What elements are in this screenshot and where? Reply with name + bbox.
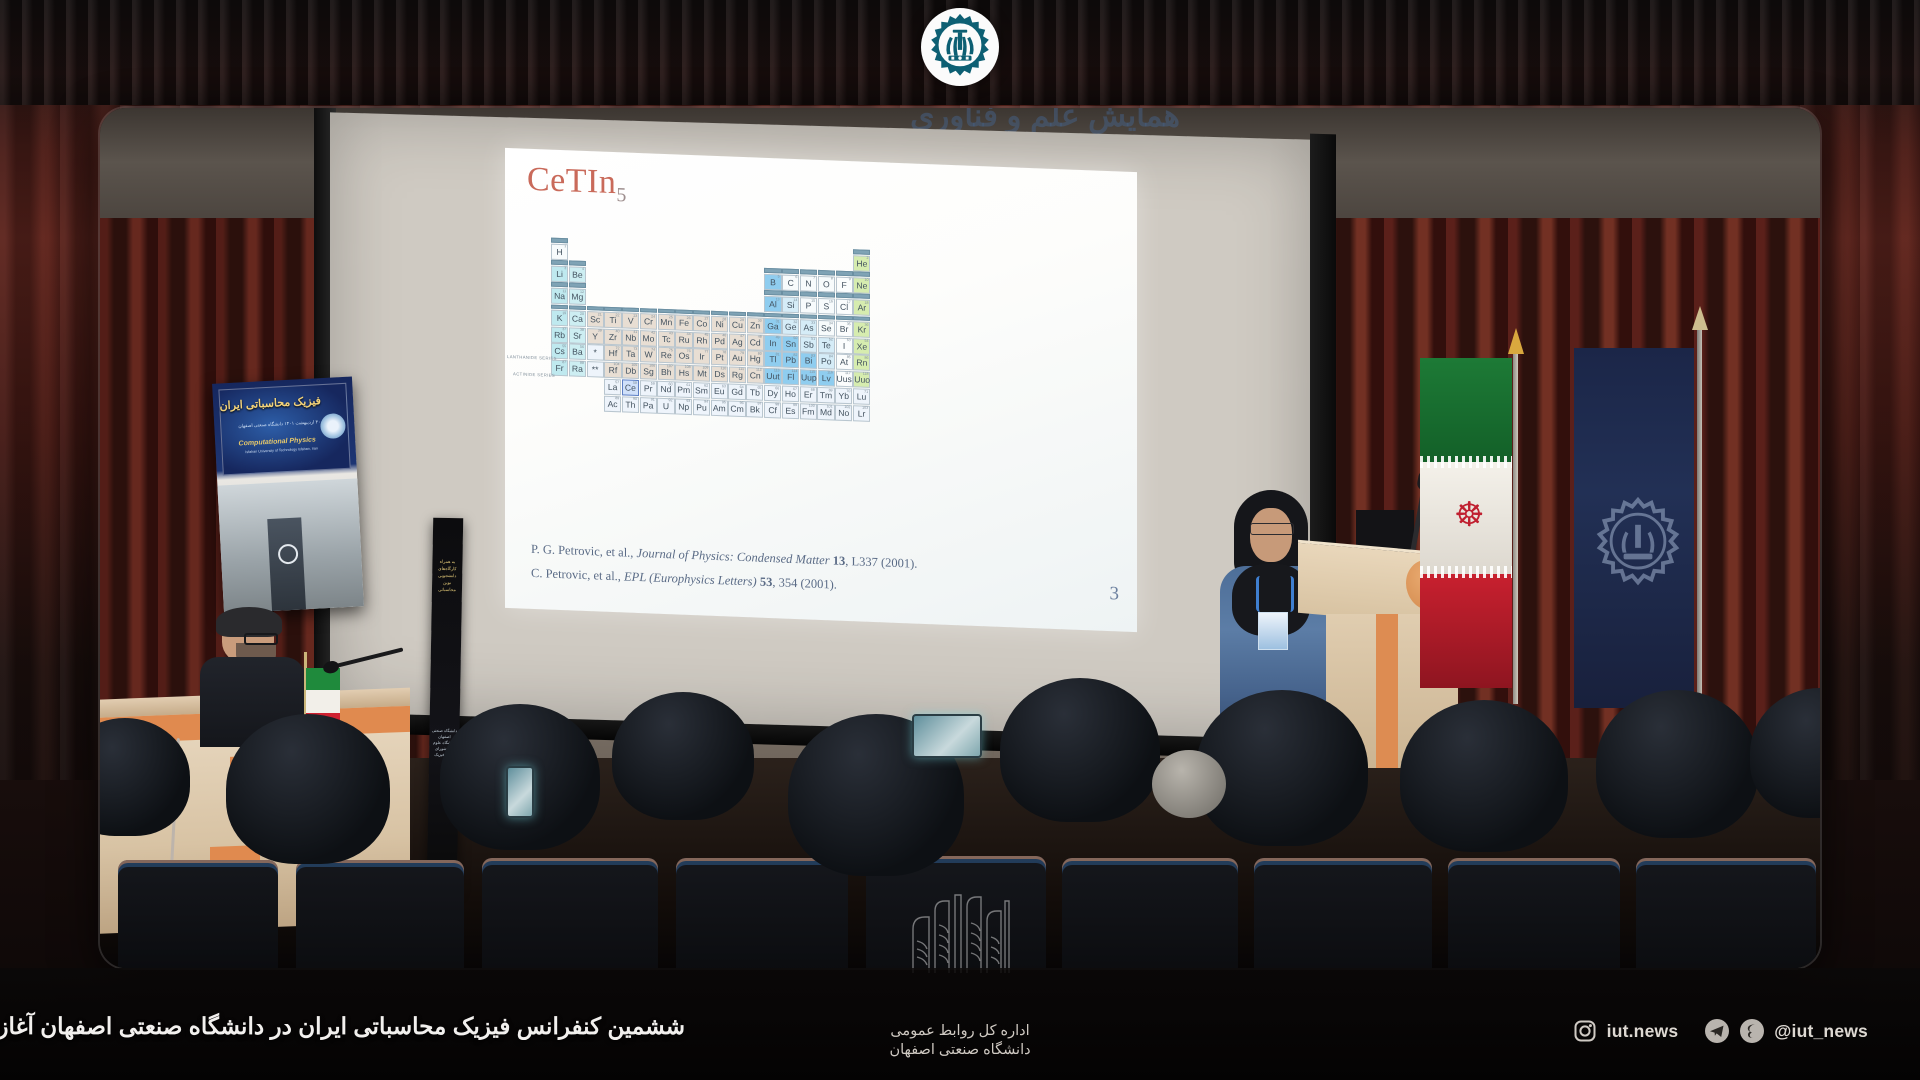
- element-hs: 108Hs: [675, 364, 692, 381]
- element-symbol: Sm: [694, 387, 709, 396]
- instagram-icon[interactable]: [1572, 1018, 1598, 1044]
- group-tab: [711, 310, 728, 315]
- eitaa-icon[interactable]: [1739, 1018, 1765, 1044]
- element-tm: 69Tm: [817, 387, 834, 404]
- instagram-handle[interactable]: iut.news: [1607, 1021, 1679, 1042]
- element-au: 79Au: [729, 350, 746, 367]
- element-p: 15P: [800, 297, 817, 314]
- element-symbol: Po: [819, 357, 834, 366]
- element-symbol: Au: [730, 354, 745, 363]
- element-symbol: Pa: [641, 401, 656, 410]
- element-tc: 43Tc: [658, 331, 675, 348]
- element-symbol: No: [836, 409, 851, 418]
- phone-screen: [914, 716, 980, 756]
- group-tab: [853, 294, 870, 299]
- element-symbol: Fr: [552, 364, 567, 373]
- element-symbol: Cr: [641, 318, 656, 327]
- element-symbol: Rf: [605, 366, 620, 375]
- group-tab-spacer: [587, 283, 604, 288]
- group-tab: [640, 308, 657, 313]
- element-symbol: Re: [659, 351, 674, 360]
- element-rg: 111Rg: [729, 366, 746, 383]
- element-pm: 61Pm: [675, 382, 692, 399]
- periodic-spacer: [640, 247, 657, 264]
- periodic-spacer: [640, 291, 657, 308]
- element-nd: 60Nd: [657, 381, 674, 398]
- element-zr: 40Zr: [604, 328, 621, 345]
- periodic-spacer: [711, 249, 728, 266]
- element-uuo: 118Uuo: [853, 371, 870, 388]
- element-ga: 31Ga: [764, 318, 781, 335]
- element-symbol: W: [641, 351, 656, 360]
- periodic-spacer: [604, 290, 621, 307]
- element-*: *: [587, 344, 604, 361]
- group-tab-spacer: [675, 265, 692, 270]
- element-as: 33As: [800, 319, 817, 336]
- element-symbol: Mo: [641, 334, 656, 343]
- slide-page-number: 3: [1110, 583, 1120, 605]
- group-tab: [800, 292, 817, 297]
- iut-calligraphy-watermark-icon: [905, 881, 1015, 976]
- group-tab: [569, 283, 586, 288]
- element-symbol: Li: [552, 270, 567, 279]
- element-symbol: K: [552, 314, 567, 323]
- group-tab-spacer: [729, 244, 746, 249]
- element-symbol: Eu: [712, 387, 727, 396]
- periodic-spacer: [569, 244, 586, 261]
- group-tab: [658, 308, 675, 313]
- element-symbol: Ta: [623, 350, 638, 359]
- element-he: 2He: [853, 255, 870, 272]
- element-lu: 71Lu: [853, 389, 870, 406]
- group-tab-spacer: [622, 263, 639, 268]
- element-o: 8O: [818, 276, 835, 293]
- element-ac: 89Ac: [604, 395, 621, 412]
- element-se: 34Se: [818, 320, 835, 337]
- phone-screen: [508, 768, 532, 816]
- element-symbol: Fe: [676, 319, 691, 328]
- element-symbol: P: [801, 302, 816, 311]
- element-y: 39Y: [587, 328, 604, 345]
- element-symbol: Ac: [605, 400, 620, 409]
- element-i: 53I: [836, 337, 853, 354]
- element-symbol: H: [552, 248, 567, 257]
- seat: [482, 858, 658, 968]
- element-symbol: Uuo: [854, 375, 869, 384]
- element-sb: 51Sb: [800, 336, 817, 353]
- element-symbol: Tb: [747, 389, 762, 398]
- element-ce: 58Ce: [622, 380, 639, 397]
- periodic-spacer: [622, 246, 639, 263]
- element-os: 76Os: [675, 348, 692, 365]
- element-symbol: Tc: [659, 335, 674, 344]
- element-symbol: Rn: [854, 359, 869, 368]
- element-es: 99Es: [782, 402, 799, 419]
- element-symbol: Ag: [730, 337, 745, 346]
- element-mn: 25Mn: [658, 314, 675, 331]
- element-cm: 96Cm: [728, 400, 745, 417]
- element-sg: 106Sg: [640, 363, 657, 380]
- element-f: 9F: [836, 276, 853, 293]
- group-tab-spacer: [640, 241, 657, 246]
- element-symbol: Bh: [659, 368, 674, 377]
- group-tab: [764, 268, 781, 273]
- element-symbol: Tm: [818, 391, 833, 400]
- element-dy: 66Dy: [764, 385, 781, 402]
- element-symbol: Uup: [801, 373, 816, 382]
- element-rb: 37Rb: [551, 326, 568, 343]
- group-tab-spacer: [693, 287, 710, 292]
- element-cu: 29Cu: [729, 317, 746, 334]
- element-symbol: Zn: [748, 322, 763, 331]
- element-s: 16S: [818, 298, 835, 315]
- element-symbol: Lu: [854, 393, 869, 402]
- group-tab: [551, 304, 568, 309]
- news-photo-card: همایش علم و فناوری CeTIn5 1H2He3Li: [0, 0, 1920, 1080]
- audience-head: [1750, 688, 1820, 818]
- periodic-spacer: [587, 289, 604, 306]
- group-tab: [818, 314, 835, 319]
- element-symbol: Sn: [783, 340, 798, 349]
- element-symbol: Mn: [659, 318, 674, 327]
- element-symbol: O: [819, 280, 834, 289]
- group-tab: [569, 261, 586, 266]
- element-symbol: **: [588, 365, 603, 374]
- element-symbol: Xe: [854, 342, 869, 351]
- periodic-spacer: [640, 269, 657, 286]
- element-symbol: Lv: [819, 374, 834, 383]
- element-symbol: At: [837, 358, 852, 367]
- element-symbol: Nd: [658, 385, 673, 394]
- citation-journal: EPL (Europhysics Letters): [624, 569, 757, 588]
- element-symbol: N: [801, 279, 816, 288]
- element-am: 95Am: [711, 400, 728, 417]
- element-symbol: Es: [783, 406, 798, 415]
- element-symbol: I: [837, 342, 852, 351]
- poster-tower-graphic: [267, 517, 306, 611]
- group-tab-spacer: [640, 285, 657, 290]
- group-tab: [800, 269, 817, 274]
- group-tab-spacer: [711, 244, 728, 249]
- element-symbol: Ds: [712, 370, 727, 379]
- element-u: 92U: [657, 397, 674, 414]
- audience-head: [1596, 690, 1758, 838]
- telegram-icon[interactable]: [1704, 1018, 1730, 1044]
- flag-emblem-icon: ☸: [1454, 498, 1494, 540]
- element-symbol: Lr: [854, 409, 869, 418]
- audience-head-gray: [1152, 750, 1226, 818]
- group-tab-spacer: [587, 239, 604, 244]
- element-symbol: S: [819, 302, 834, 311]
- element-cd: 48Cd: [747, 334, 764, 351]
- element-eu: 63Eu: [711, 383, 728, 400]
- group-tab: [747, 312, 764, 317]
- group-tab: [551, 238, 568, 243]
- group-tab-spacer: [711, 266, 728, 271]
- element-symbol: Os: [676, 352, 691, 361]
- element-pt: 78Pt: [711, 349, 728, 366]
- group-tab-spacer: [764, 246, 781, 251]
- element-sr: 38Sr: [569, 327, 586, 344]
- element-symbol: Yb: [836, 392, 851, 401]
- group-tab: [569, 305, 586, 310]
- group-tab-spacer: [747, 267, 764, 272]
- element-symbol: Fl: [783, 373, 798, 382]
- group-tab: [782, 291, 799, 296]
- element-symbol: Cl: [837, 303, 852, 312]
- audience-head: [1000, 678, 1160, 822]
- iut-gear-logo-icon: [1590, 496, 1686, 592]
- element-k: 19K: [551, 310, 568, 327]
- citation-volume: 53: [760, 575, 773, 589]
- element-ho: 67Ho: [782, 386, 799, 403]
- element-symbol: F: [837, 281, 852, 290]
- element-cl: 17Cl: [836, 299, 853, 316]
- group-tab: [836, 293, 853, 298]
- element-co: 27Co: [693, 315, 710, 332]
- citation-year: (2001).: [881, 555, 917, 570]
- element-symbol: Sc: [588, 316, 603, 325]
- element-ne: 10Ne: [853, 277, 870, 294]
- periodic-spacer: [604, 268, 621, 285]
- periodic-spacer: [675, 270, 692, 287]
- element-symbol: Si: [783, 301, 798, 310]
- element-c: 6C: [782, 274, 799, 291]
- element-rf: 104Rf: [604, 361, 621, 378]
- element-cf: 98Cf: [764, 402, 781, 419]
- group-tab: [551, 260, 568, 265]
- group-tab: [853, 316, 870, 321]
- element-symbol: Pu: [694, 403, 709, 412]
- element-symbol: Bi: [801, 357, 816, 366]
- periodic-spacer: [675, 248, 692, 265]
- seat: [1062, 858, 1238, 968]
- citation-2: C. Petrovic, et al., EPL (Europhysics Le…: [531, 566, 837, 593]
- group-tab: [675, 309, 692, 314]
- element-symbol: Pr: [641, 385, 656, 394]
- element-symbol: Md: [818, 408, 833, 417]
- element-at: 85At: [836, 354, 853, 371]
- citation-authors: P. G. Petrovic, et al.,: [531, 542, 633, 560]
- group-tab-spacer: [658, 286, 675, 291]
- lanthanide-series-label: LANTHANIDE SERIES: [507, 354, 557, 361]
- group-tab: [729, 311, 746, 316]
- seat: [118, 860, 278, 968]
- element-symbol: In: [765, 339, 780, 348]
- element-uus: 117Uus: [836, 370, 853, 387]
- element-re: 75Re: [658, 347, 675, 364]
- element-fm: 100Fm: [800, 403, 817, 420]
- iut-gear-logo-icon: [921, 8, 999, 86]
- element-al: 13Al: [764, 296, 781, 313]
- element-symbol: Co: [694, 320, 709, 329]
- element-md: 101Md: [817, 404, 834, 421]
- poster-bottom-image: [217, 478, 364, 613]
- element-symbol: Ru: [676, 335, 691, 344]
- element-no: 102No: [835, 404, 852, 421]
- element-mo: 42Mo: [640, 330, 657, 347]
- periodic-spacer: [693, 249, 710, 266]
- seat: [1448, 858, 1620, 968]
- group-tab-spacer: [729, 267, 746, 272]
- element-ge: 32Ge: [782, 319, 799, 336]
- element-w: 74W: [640, 346, 657, 363]
- flag-green-band: [1420, 358, 1512, 462]
- element-sc: 21Sc: [587, 311, 604, 328]
- element-symbol: Hg: [748, 355, 763, 364]
- element-symbol: Hs: [676, 368, 691, 377]
- element-te: 52Te: [818, 337, 835, 354]
- element-yb: 70Yb: [835, 388, 852, 405]
- element-symbol: Db: [623, 366, 638, 375]
- periodic-spacer: [622, 268, 639, 285]
- flag-kufic-band-top: [1420, 456, 1512, 468]
- element-symbol: Ir: [694, 353, 709, 362]
- element-symbol: Tl: [765, 355, 780, 364]
- element-symbol: *: [588, 349, 603, 358]
- group-tab-spacer: [604, 284, 621, 289]
- element-symbol: Kr: [854, 326, 869, 335]
- slide-title-text: CeTIn: [527, 161, 616, 201]
- element-si: 14Si: [782, 297, 799, 314]
- element-symbol: Hf: [605, 349, 620, 358]
- element-symbol: Br: [837, 325, 852, 334]
- element-symbol: Ba: [570, 348, 585, 357]
- element-symbol: Cd: [748, 338, 763, 347]
- element-symbol: B: [765, 278, 780, 287]
- seat: [296, 860, 464, 968]
- element-symbol: Pm: [676, 386, 691, 395]
- element-symbol: Dy: [765, 389, 780, 398]
- element-ir: 77Ir: [693, 348, 710, 365]
- element-n: 7N: [800, 275, 817, 292]
- group-tab: [853, 271, 870, 276]
- periodic-spacer: [747, 295, 764, 312]
- element-symbol: Ne: [854, 281, 869, 290]
- periodic-spacer: [818, 254, 835, 271]
- footer-bar: ششمین کنفرانس فیزیک محاسباتی ایران در دا…: [0, 968, 1920, 1080]
- group-tab-spacer: [747, 290, 764, 295]
- element-symbol: Uut: [765, 372, 780, 381]
- element-symbol: Y: [588, 332, 603, 341]
- element-symbol: Ra: [570, 364, 585, 373]
- element-po: 84Po: [818, 353, 835, 370]
- group-tab: [693, 310, 710, 315]
- presenter-glasses: [1250, 523, 1294, 535]
- element-uut: 113Uut: [764, 368, 781, 385]
- element-symbol: Se: [819, 324, 834, 333]
- element-symbol: Ar: [854, 304, 869, 313]
- element-rh: 45Rh: [693, 332, 710, 349]
- element-rn: 86Rn: [853, 355, 870, 372]
- periodic-spacer: [587, 245, 604, 262]
- organization-credit: اداره کل روابط عمومی دانشگاه صنعتی اصفها…: [889, 1023, 1030, 1058]
- eitaa-handle[interactable]: @iut_news: [1774, 1021, 1868, 1042]
- element-bh: 107Bh: [658, 364, 675, 381]
- element-mt: 109Mt: [693, 365, 710, 382]
- group-tab-spacer: [675, 287, 692, 292]
- element-symbol: U: [658, 402, 673, 411]
- periodic-spacer: [764, 252, 781, 269]
- element-mg: 12Mg: [569, 288, 586, 305]
- element-cn: 112Cn: [747, 367, 764, 384]
- element-symbol: Cm: [729, 404, 744, 413]
- periodic-spacer: [622, 290, 639, 307]
- phone-recording: [912, 714, 982, 758]
- citation-journal: Journal of Physics: Condensed Matter: [637, 546, 830, 567]
- element-symbol: As: [801, 324, 816, 333]
- element-symbol: He: [854, 259, 869, 268]
- element-symbol: Ga: [765, 322, 780, 331]
- citation-year: (2001).: [800, 576, 836, 591]
- group-tab: [836, 315, 853, 320]
- element-pa: 91Pa: [640, 397, 657, 414]
- periodic-spacer: [658, 292, 675, 309]
- slide-title-subscript: 5: [616, 184, 627, 206]
- element-symbol: Ti: [605, 316, 620, 325]
- element-h: 1H: [551, 243, 568, 260]
- element-ni: 28Ni: [711, 316, 728, 333]
- element-ag: 47Ag: [729, 333, 746, 350]
- element-tl: 81Tl: [764, 351, 781, 368]
- group-tab: [587, 306, 604, 311]
- element-symbol: Mg: [570, 293, 585, 302]
- social-handles: iut.news @iut_news: [1572, 1018, 1868, 1044]
- audience-head: [100, 718, 190, 836]
- element-symbol: Pd: [712, 337, 727, 346]
- photo-frame: همایش علم و فناوری CeTIn5 1H2He3Li: [100, 108, 1820, 968]
- group-tab-spacer: [604, 262, 621, 267]
- periodic-spacer: [658, 270, 675, 287]
- element-symbol: Cu: [730, 321, 745, 330]
- element-symbol: Ca: [570, 315, 585, 324]
- element-symbol: Ge: [783, 323, 798, 332]
- element-gd: 64Gd: [728, 384, 745, 401]
- periodic-spacer: [782, 252, 799, 269]
- seat: [676, 858, 848, 968]
- audience-head: [226, 714, 390, 864]
- org-line-2: دانشگاه صنعتی اصفهان: [889, 1042, 1030, 1058]
- group-tab-spacer: [658, 242, 675, 247]
- element-be: 4Be: [569, 266, 586, 283]
- element-fe: 26Fe: [675, 315, 692, 332]
- element-symbol: Mt: [694, 369, 709, 378]
- group-tab: [782, 269, 799, 274]
- element-symbol: Sb: [801, 340, 816, 349]
- element-fl: 114Fl: [782, 368, 799, 385]
- element-bi: 83Bi: [800, 352, 817, 369]
- element-symbol: Nb: [623, 333, 638, 342]
- element-ti: 22Ti: [604, 312, 621, 329]
- element-symbol: Pb: [783, 356, 798, 365]
- group-tab-spacer: [693, 265, 710, 270]
- element-ca: 20Ca: [569, 311, 586, 328]
- element-symbol: Sg: [641, 367, 656, 376]
- element-hf: 72Hf: [604, 345, 621, 362]
- element-symbol: Fm: [801, 407, 816, 416]
- presenter-face: [1250, 508, 1292, 562]
- element-b: 5B: [764, 274, 781, 291]
- element-lv: 116Lv: [818, 370, 835, 387]
- group-tab-spacer: [711, 288, 728, 293]
- element-symbol: V: [623, 317, 638, 326]
- news-headline: ششمین کنفرانس فیزیک محاسباتی ایران در دا…: [0, 1013, 685, 1040]
- citation-volume: 13: [833, 553, 846, 567]
- element-symbol: Na: [552, 292, 567, 301]
- element-tb: 65Tb: [746, 384, 763, 401]
- periodic-spacer: [658, 247, 675, 264]
- element-symbol: Er: [801, 391, 816, 400]
